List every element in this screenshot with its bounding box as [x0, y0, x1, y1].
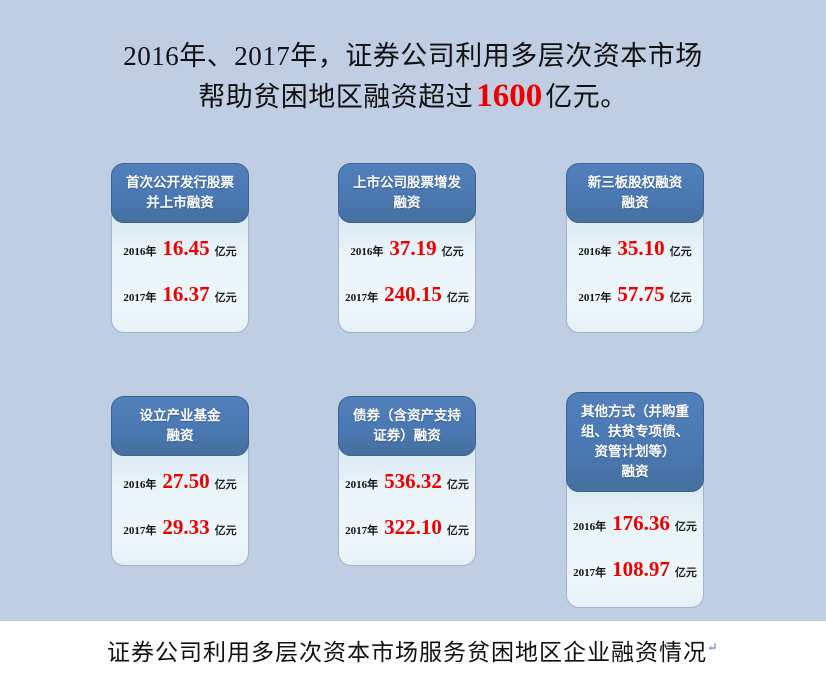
card-neeq-equity[interactable]: 新三板股权融资 融资 2016年 35.10 亿元 2017年 57.75 亿元 — [566, 163, 704, 333]
card-title-line-2: 组、扶贫专项债、 — [574, 422, 696, 442]
value-year: 2017年 — [578, 289, 611, 305]
value-unit: 亿元 — [447, 522, 469, 538]
card-title-line-1: 设立产业基金 — [119, 406, 241, 426]
value-amount: 57.75 — [611, 282, 669, 307]
value-amount: 536.32 — [378, 469, 447, 494]
card-body: 2016年 536.32 亿元 2017年 322.10 亿元 — [338, 444, 476, 566]
card-body: 2016年 37.19 亿元 2017年 240.15 亿元 — [338, 211, 476, 333]
card-title-line-2: 融资 — [119, 426, 241, 446]
value-row: 2016年 536.32 亿元 — [339, 469, 475, 503]
card-ipo-listing[interactable]: 首次公开发行股票 并上市融资 2016年 16.45 亿元 2017年 16.3… — [111, 163, 249, 333]
card-body: 2016年 35.10 亿元 2017年 57.75 亿元 — [566, 211, 704, 333]
card-body: 2016年 16.45 亿元 2017年 16.37 亿元 — [111, 211, 249, 333]
value-year: 2016年 — [573, 518, 606, 534]
value-row: 2017年 57.75 亿元 — [567, 282, 703, 316]
value-year: 2017年 — [573, 564, 606, 580]
value-year: 2016年 — [350, 243, 383, 259]
infographic-root: 2016年、2017年，证券公司利用多层次资本市场 帮助贫困地区融资超过1600… — [0, 0, 826, 677]
value-year: 2017年 — [123, 289, 156, 305]
card-header: 设立产业基金 融资 — [111, 396, 249, 456]
value-row: 2016年 176.36 亿元 — [567, 511, 703, 545]
value-year: 2016年 — [123, 243, 156, 259]
card-industry-fund[interactable]: 设立产业基金 融资 2016年 27.50 亿元 2017年 29.33 亿元 — [111, 396, 249, 566]
card-title-line-4: 融资 — [574, 462, 696, 482]
value-row: 2016年 16.45 亿元 — [112, 236, 248, 270]
caption-area: 证券公司利用多层次资本市场服务贫困地区企业融资情况↵ — [0, 621, 826, 677]
card-title-line-2: 融资 — [574, 193, 696, 213]
card-secondary-offering[interactable]: 上市公司股票增发 融资 2016年 37.19 亿元 2017年 240.15 … — [338, 163, 476, 333]
value-amount: 108.97 — [606, 557, 675, 582]
value-year: 2017年 — [123, 522, 156, 538]
card-body: 2016年 27.50 亿元 2017年 29.33 亿元 — [111, 444, 249, 566]
card-title-line-1: 其他方式（并购重 — [574, 402, 696, 422]
value-unit: 亿元 — [670, 243, 692, 259]
value-amount: 16.37 — [156, 282, 214, 307]
card-body: 2016年 176.36 亿元 2017年 108.97 亿元 — [566, 480, 704, 608]
card-header: 新三板股权融资 融资 — [566, 163, 704, 223]
card-title-line-2: 并上市融资 — [119, 193, 241, 213]
value-unit: 亿元 — [447, 476, 469, 492]
card-title-line-3: 资管计划等） — [574, 442, 696, 462]
value-year: 2016年 — [345, 476, 378, 492]
value-amount: 322.10 — [378, 515, 447, 540]
card-header: 债券（含资产支持 证券）融资 — [338, 396, 476, 456]
value-unit: 亿元 — [215, 476, 237, 492]
value-row: 2016年 35.10 亿元 — [567, 236, 703, 270]
value-unit: 亿元 — [215, 289, 237, 305]
card-title-line-1: 首次公开发行股票 — [119, 173, 241, 193]
card-header: 首次公开发行股票 并上市融资 — [111, 163, 249, 223]
value-unit: 亿元 — [675, 564, 697, 580]
card-grid: 首次公开发行股票 并上市融资 2016年 16.45 亿元 2017年 16.3… — [0, 0, 826, 621]
card-header: 其他方式（并购重 组、扶贫专项债、 资管计划等） 融资 — [566, 392, 704, 492]
value-row: 2016年 27.50 亿元 — [112, 469, 248, 503]
card-title-line-1: 新三板股权融资 — [574, 173, 696, 193]
value-row: 2017年 240.15 亿元 — [339, 282, 475, 316]
card-header: 上市公司股票增发 融资 — [338, 163, 476, 223]
figure-caption: 证券公司利用多层次资本市场服务贫困地区企业融资情况↵ — [0, 633, 826, 667]
value-amount: 16.45 — [156, 236, 214, 261]
value-amount: 37.19 — [383, 236, 441, 261]
value-amount: 176.36 — [606, 511, 675, 536]
value-year: 2016年 — [123, 476, 156, 492]
value-unit: 亿元 — [442, 243, 464, 259]
value-amount: 27.50 — [156, 469, 214, 494]
value-unit: 亿元 — [215, 522, 237, 538]
value-year: 2017年 — [345, 289, 378, 305]
value-amount: 240.15 — [378, 282, 447, 307]
value-year: 2017年 — [345, 522, 378, 538]
card-title-line-2: 证券）融资 — [346, 426, 468, 446]
card-title-line-1: 上市公司股票增发 — [346, 173, 468, 193]
value-amount: 35.10 — [611, 236, 669, 261]
value-row: 2017年 322.10 亿元 — [339, 515, 475, 549]
card-title-line-1: 债券（含资产支持 — [346, 406, 468, 426]
value-row: 2017年 108.97 亿元 — [567, 557, 703, 591]
card-bonds-abs[interactable]: 债券（含资产支持 证券）融资 2016年 536.32 亿元 2017年 322… — [338, 396, 476, 566]
value-unit: 亿元 — [447, 289, 469, 305]
value-year: 2016年 — [578, 243, 611, 259]
paragraph-mark-icon: ↵ — [707, 639, 719, 654]
value-unit: 亿元 — [670, 289, 692, 305]
value-row: 2016年 37.19 亿元 — [339, 236, 475, 270]
figure-caption-text: 证券公司利用多层次资本市场服务贫困地区企业融资情况 — [107, 640, 707, 665]
value-unit: 亿元 — [215, 243, 237, 259]
value-row: 2017年 16.37 亿元 — [112, 282, 248, 316]
value-unit: 亿元 — [675, 518, 697, 534]
value-row: 2017年 29.33 亿元 — [112, 515, 248, 549]
value-amount: 29.33 — [156, 515, 214, 540]
card-title-line-2: 融资 — [346, 193, 468, 213]
card-other-methods[interactable]: 其他方式（并购重 组、扶贫专项债、 资管计划等） 融资 2016年 176.36… — [566, 392, 704, 608]
